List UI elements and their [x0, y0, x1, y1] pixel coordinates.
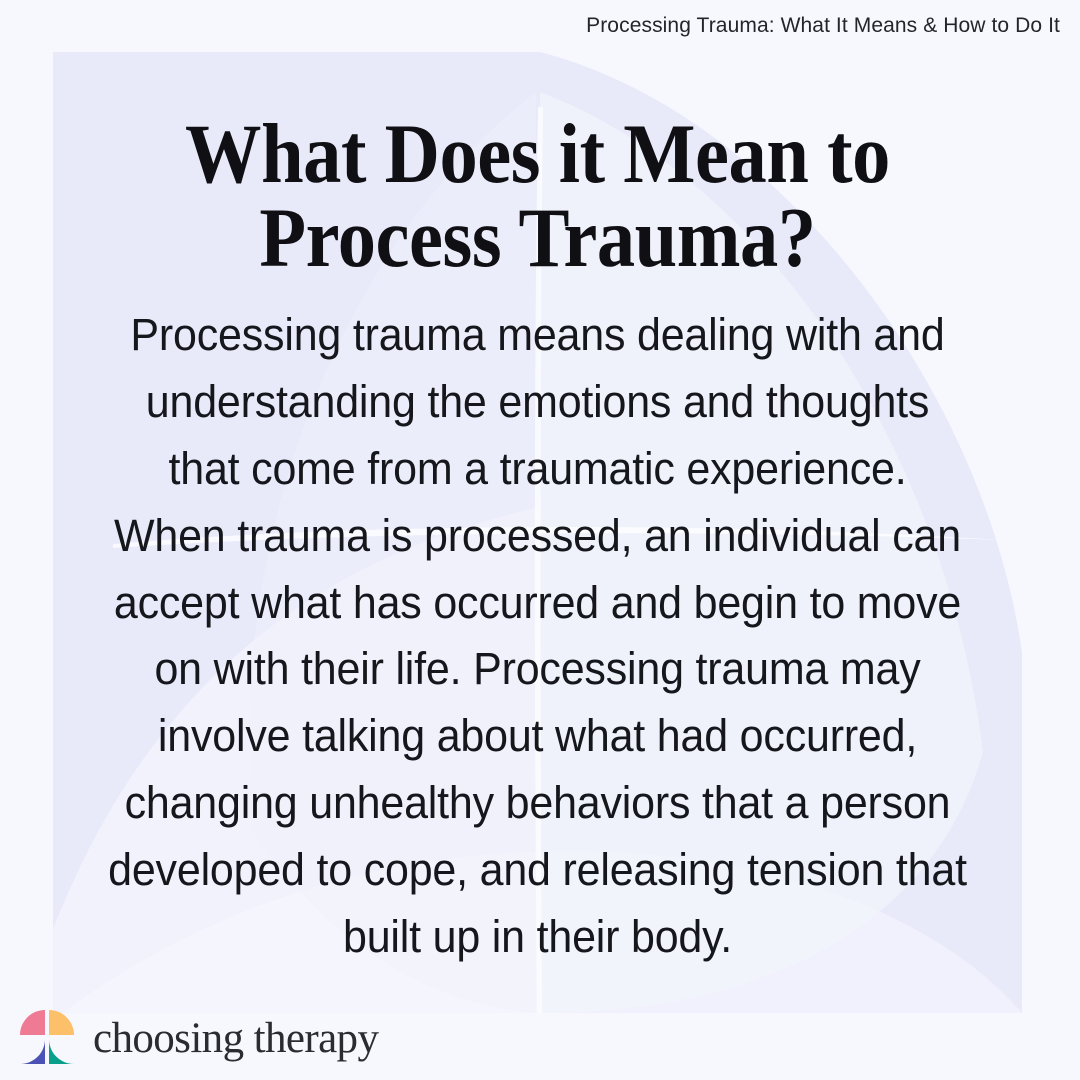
body-paragraph: Processing trauma means dealing with and…: [107, 302, 967, 970]
choosing-therapy-logo-icon: [18, 1008, 76, 1066]
card-content: What Does it Mean to Process Trauma? Pro…: [53, 52, 1022, 1013]
page-header: Processing Trauma: What It Means & How t…: [0, 0, 1080, 52]
logo-quadrant-top-right: [49, 1010, 74, 1035]
logo-quadrant-bottom-right: [49, 1039, 74, 1064]
logo-quadrant-top-left: [20, 1010, 45, 1035]
headline: What Does it Mean to Process Trauma?: [132, 112, 943, 280]
logo-quadrant-bottom-left: [20, 1039, 45, 1064]
brand-wordmark: choosing therapy: [93, 1017, 378, 1060]
page-header-title: Processing Trauma: What It Means & How t…: [586, 14, 1060, 38]
brand-lockup[interactable]: choosing therapy: [18, 1008, 378, 1066]
